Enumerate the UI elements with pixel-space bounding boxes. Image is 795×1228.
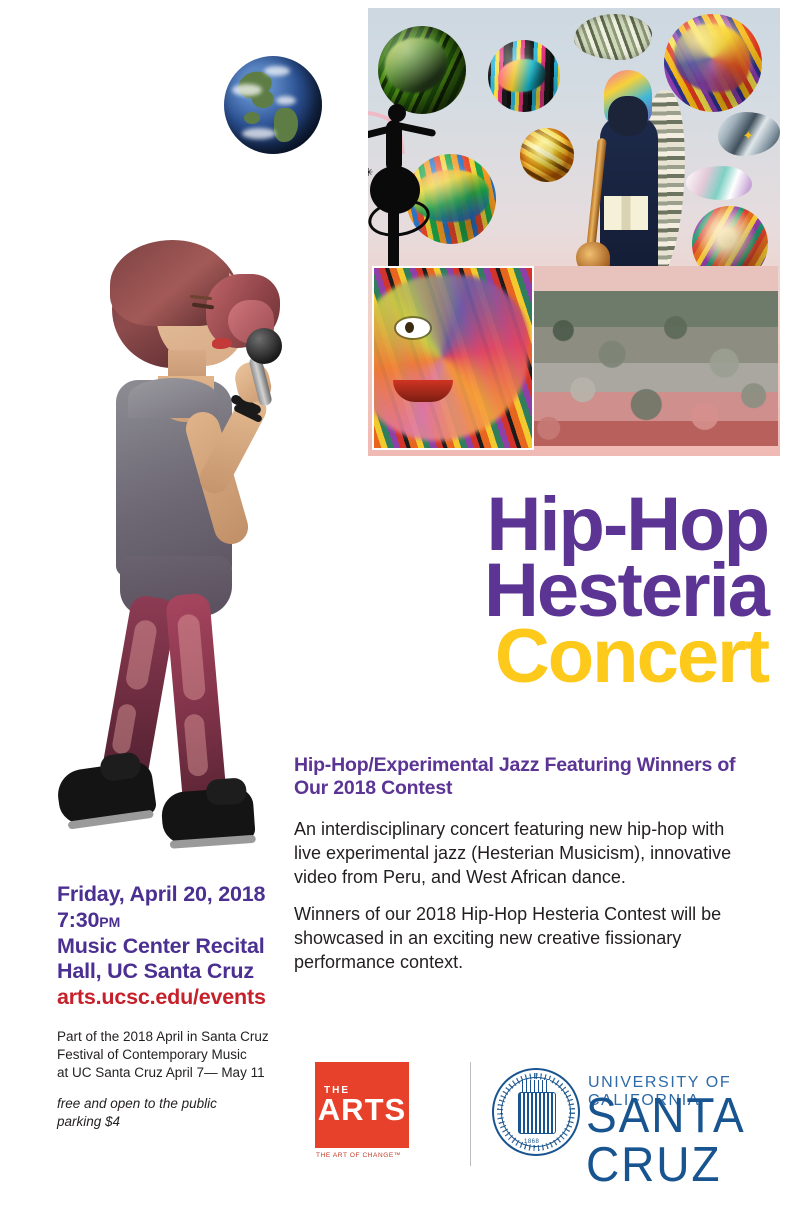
event-details: Friday, April 20, 2018 7:30PM Music Cent… (57, 882, 307, 1011)
microphone-icon (246, 328, 282, 364)
marbled-face-panel (372, 266, 534, 450)
logo-divider (470, 1062, 471, 1166)
earth-globe (224, 56, 322, 154)
description-paragraph-1: An interdisciplinary concert featuring n… (294, 818, 744, 889)
marble-sphere-gold (520, 128, 574, 182)
admission-line-2: parking $4 (57, 1114, 120, 1129)
arts-word-label: ARTS (318, 1094, 406, 1125)
event-venue-line-1: Music Center Recital (57, 934, 264, 958)
description-paragraph-2: Winners of our 2018 Hip-Hop Hesteria Con… (294, 903, 744, 974)
admission-line-1: free and open to the public (57, 1095, 327, 1113)
uc-seal-year: 1868 (524, 1139, 539, 1145)
rocky-landscape-panel (534, 266, 778, 446)
singer-leg-right (165, 592, 227, 803)
event-venue-line-2: Hall, UC Santa Cruz (57, 959, 254, 983)
singer-illustration (40, 238, 340, 838)
poster-title: Hip-Hop Hesteria Concert (298, 492, 768, 690)
singer-boot-right (160, 787, 255, 845)
festival-line-2: Festival of Contemporary Music (57, 1047, 247, 1062)
poster-subtitle: Hip-Hop/Experimental Jazz Featuring Winn… (294, 754, 744, 800)
the-arts-logo: THE ARTS THE ART OF CHANGE™ (315, 1062, 465, 1168)
marble-sphere-rainbow (488, 40, 560, 112)
arts-tagline: THE ART OF CHANGE™ (316, 1152, 401, 1159)
sax-face-mask (608, 96, 648, 136)
uc-seal-icon: 1868 (492, 1068, 580, 1156)
collage-artwork: ✦ ✳ ✳ (368, 8, 780, 456)
marble-sphere-green (378, 26, 466, 114)
event-time-meridiem: PM (99, 914, 120, 930)
uc-campus-label: SANTA CRUZ (586, 1092, 744, 1190)
uc-santa-cruz-logo: 1868 UNIVERSITY OF CALIFORNIA SANTA CRUZ (492, 1064, 754, 1164)
white-blob (686, 166, 752, 200)
chrome-blob: ✦ (718, 112, 780, 156)
title-line-3: Concert (298, 624, 768, 690)
poster-canvas: ✦ ✳ ✳ (0, 0, 795, 1228)
festival-line-1: Part of the 2018 April in Santa Cruz (57, 1029, 269, 1044)
singer-boot-left (55, 760, 158, 827)
spark-icon: ✦ (743, 128, 754, 144)
event-time: 7:30 (57, 908, 99, 932)
event-url-link[interactable]: arts.ucsc.edu/events (57, 985, 307, 1011)
fineprint-block: Part of the 2018 April in Santa Cruz Fes… (57, 1028, 327, 1131)
festival-line-3: at UC Santa Cruz April 7— May 11 (57, 1065, 265, 1080)
asterisk-small-icon: ✳ (368, 168, 373, 179)
event-date: Friday, April 20, 2018 (57, 882, 265, 906)
arts-red-box: THE ARTS (315, 1062, 409, 1148)
swirl-blob-olive (574, 14, 652, 60)
